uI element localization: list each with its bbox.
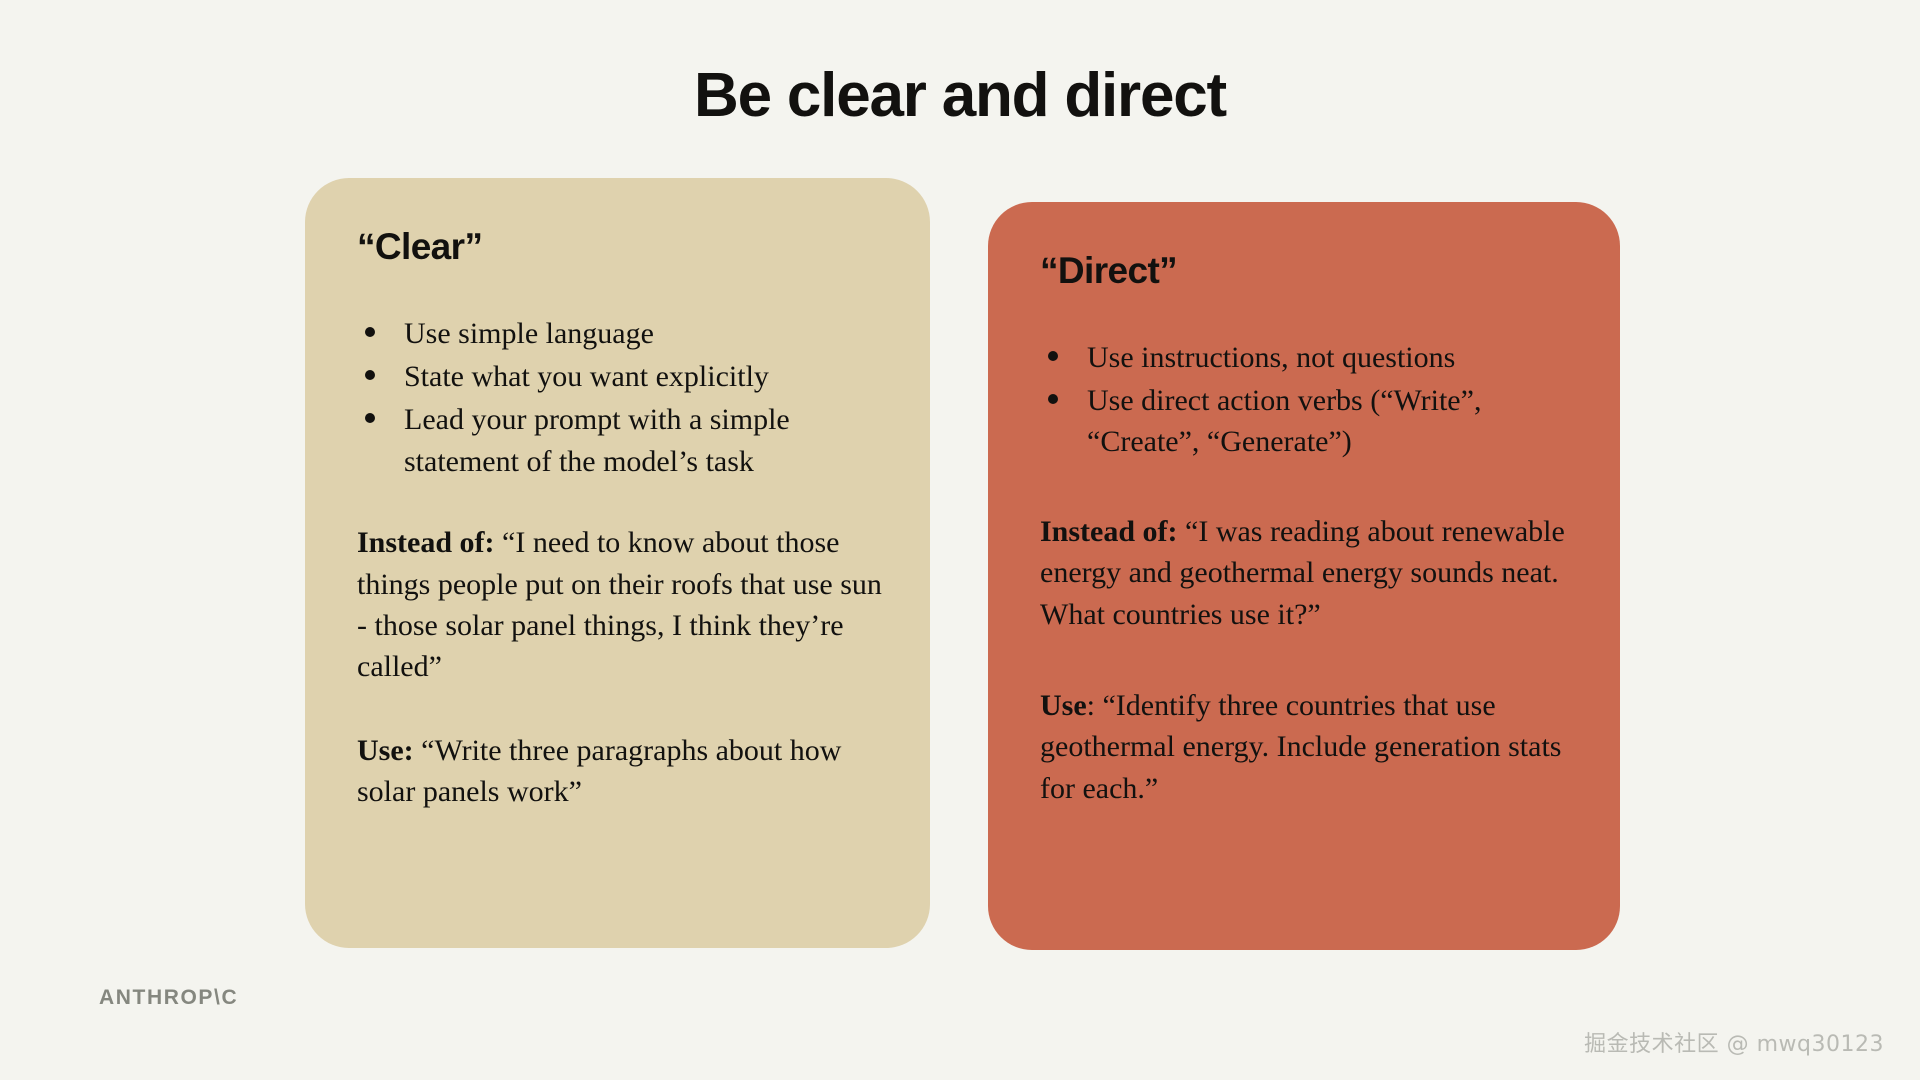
card-clear-heading: “Clear” — [357, 226, 886, 269]
list-item: State what you want explicitly — [357, 356, 886, 397]
list-item: Use simple language — [357, 313, 886, 354]
instead-of-label: Instead of: — [1040, 515, 1178, 548]
list-item-label: Use simple language — [404, 317, 654, 350]
card-direct: “Direct” Use instructions, not questions… — [988, 202, 1620, 950]
use-text: “Write three paragraphs about how solar … — [357, 734, 841, 808]
bullet-dot-icon — [365, 327, 375, 337]
bullet-dot-icon — [1048, 351, 1058, 361]
card-clear: “Clear” Use simple language State what y… — [305, 178, 930, 948]
card-direct-bullet-list: Use instructions, not questions Use dire… — [1040, 337, 1576, 463]
card-direct-use: Use: “Identify three countries that use … — [1040, 685, 1576, 809]
list-item-label: State what you want explicitly — [404, 360, 769, 393]
card-direct-instead-of: Instead of: “I was reading about renewab… — [1040, 511, 1576, 635]
card-clear-bullet-list: Use simple language State what you want … — [357, 313, 886, 483]
list-item: Use direct action verbs (“Write”, “Creat… — [1040, 380, 1576, 463]
instead-of-label: Instead of: — [357, 526, 495, 559]
bullet-dot-icon — [365, 413, 375, 423]
card-clear-content: “Clear” Use simple language State what y… — [357, 226, 886, 812]
list-item: Lead your prompt with a simple statement… — [357, 399, 886, 482]
list-item-label: Lead your prompt with a simple statement… — [404, 403, 790, 477]
use-label: Use: — [357, 734, 414, 767]
bullet-dot-icon — [365, 370, 375, 380]
anthropic-logo: ANTHROP\C — [99, 986, 238, 1010]
card-clear-use: Use: “Write three paragraphs about how s… — [357, 730, 886, 813]
card-container: “Clear” Use simple language State what y… — [0, 0, 1920, 1080]
list-item: Use instructions, not questions — [1040, 337, 1576, 378]
list-item-label: Use instructions, not questions — [1087, 341, 1455, 374]
list-item-label: Use direct action verbs (“Write”, “Creat… — [1087, 384, 1481, 458]
card-direct-content: “Direct” Use instructions, not questions… — [1040, 250, 1576, 809]
use-label: Use — [1040, 689, 1087, 722]
card-direct-heading: “Direct” — [1040, 250, 1576, 293]
card-clear-instead-of: Instead of: “I need to know about those … — [357, 522, 886, 688]
use-text: : “Identify three countries that use geo… — [1040, 689, 1561, 805]
watermark: 掘金技术社区 @ mwq30123 — [1584, 1026, 1884, 1058]
bullet-dot-icon — [1048, 394, 1058, 404]
